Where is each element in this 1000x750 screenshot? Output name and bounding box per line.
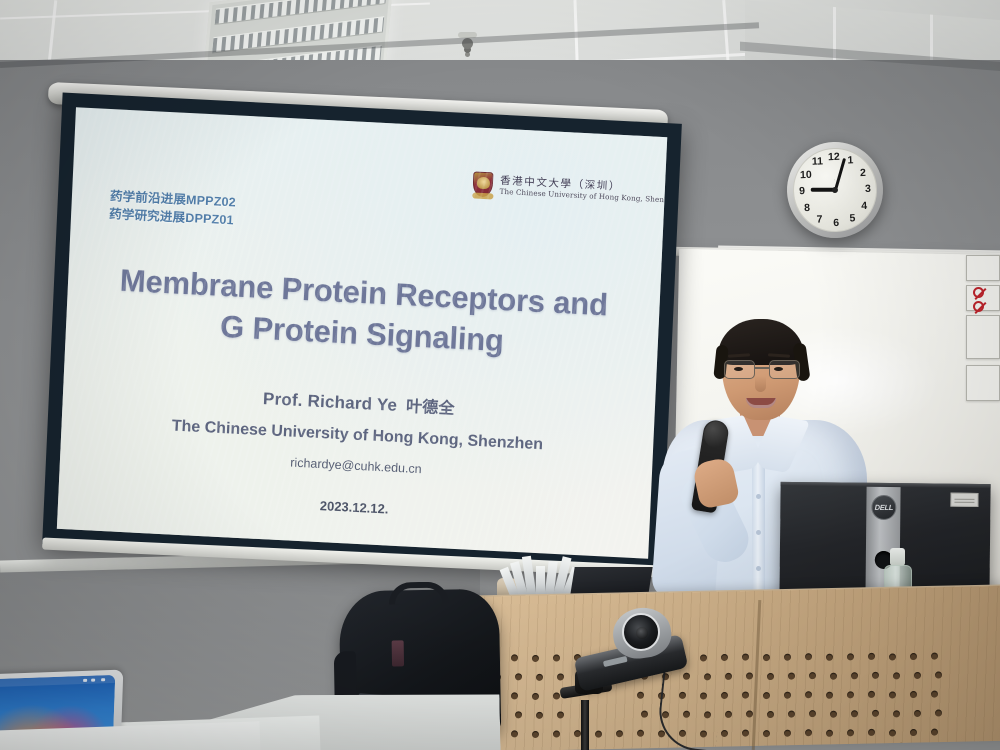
projected-slide: 药学前沿进展MPPZ02 药学研究进展DPPZ01 香港中文大學（深圳） The… (57, 107, 667, 559)
podium-perforation (868, 653, 875, 660)
podium-perforation (851, 672, 858, 679)
podium-perforation (742, 654, 749, 661)
podium-perforation (767, 673, 774, 680)
podium-perforation (725, 711, 732, 718)
podium-perforation (784, 730, 791, 737)
podium-perforation (893, 710, 900, 717)
podium-perforation (830, 710, 837, 717)
podium-perforation (637, 730, 644, 737)
notice-sign (966, 315, 1000, 359)
podium-perforation (805, 729, 812, 736)
speaker-name-en: Prof. Richard Ye (263, 389, 398, 415)
podium-perforation (595, 730, 602, 737)
cuhk-crest-icon (472, 171, 493, 197)
podium-perforation (553, 731, 560, 738)
podium-perforation (809, 710, 816, 717)
podium-perforation (721, 692, 728, 699)
podium-perforation (742, 730, 749, 737)
clock-numeral: 7 (816, 213, 822, 225)
podium-perforation (721, 730, 728, 737)
clock-numeral: 9 (799, 185, 805, 197)
podium-perforation (742, 692, 749, 699)
prohibition-icon (973, 287, 984, 298)
podium-perforation (767, 711, 774, 718)
clock-face: · 121234567891011 (792, 147, 879, 234)
eye-right (774, 367, 783, 371)
clock-numeral: 4 (861, 199, 867, 211)
clock-numeral: 2 (860, 166, 866, 178)
slide-speaker-name: Prof. Richard Ye叶德全 (63, 375, 655, 429)
podium-perforation (830, 672, 837, 679)
podium-perforation (574, 730, 581, 737)
menubar-icon (83, 678, 87, 682)
clock-numeral: 5 (849, 212, 855, 224)
podium-perforation (826, 691, 833, 698)
podium-perforation (511, 731, 518, 738)
podium-perforation (910, 653, 917, 660)
podium-perforation (515, 712, 522, 719)
podium-perforation (826, 653, 833, 660)
bottle-cap (890, 548, 905, 566)
podium-perforation (553, 655, 560, 662)
slide-date: 2023.12.12. (58, 485, 650, 530)
speaker-name-cn: 叶德全 (406, 396, 455, 417)
podium-perforation (763, 654, 770, 661)
podium-perforation (532, 693, 539, 700)
notice-sign (966, 365, 1000, 401)
clock-numeral: 11 (812, 156, 824, 168)
course-code-line-1: 药学前沿进展MPPZ02 (110, 187, 237, 211)
podium-perforation (805, 653, 812, 660)
podium-perforation (889, 729, 896, 736)
menubar-icon (101, 678, 105, 682)
notice-sign (966, 255, 1000, 281)
podium-perforation (725, 673, 732, 680)
podium-perforation (557, 711, 564, 718)
slide-title-line-2: G Protein Signaling (65, 298, 658, 369)
podium-perforation (935, 672, 942, 679)
clock-numeral: 3 (865, 183, 871, 195)
eye-left (734, 367, 743, 371)
clock-numeral: 6 (833, 217, 839, 229)
glasses-bridge (755, 367, 769, 369)
podium-perforation (637, 692, 644, 699)
podium-perforation (784, 654, 791, 661)
slide-title-line-1: Membrane Protein Receptors and (67, 257, 660, 328)
backpack-logo-tag (392, 640, 404, 666)
projection-screen: 药学前沿进展MPPZ02 药学研究进展DPPZ01 香港中文大學（深圳） The… (42, 93, 682, 576)
podium-perforation (931, 729, 938, 736)
shirt-button (756, 530, 761, 535)
podium-perforation (847, 729, 854, 736)
podium-perforation (931, 691, 938, 698)
clock-numeral: 12 (828, 151, 840, 163)
dell-logo-icon: DELL (871, 495, 896, 520)
presenter-hair (718, 319, 804, 365)
podium-perforation-grid (490, 645, 960, 750)
podium-perforation (889, 653, 896, 660)
podium-perforation (851, 710, 858, 717)
podium-perforation (910, 729, 917, 736)
podium-perforation (784, 692, 791, 699)
podium-perforation (872, 710, 879, 717)
menubar-icon (91, 678, 95, 682)
podium-perforation (553, 693, 560, 700)
podium-perforation (515, 674, 522, 681)
prohibition-icon (973, 301, 984, 312)
podium-perforation (557, 673, 564, 680)
lecture-hall-photo: · 121234567891011 药学前沿进展MPPZ02 药学研究进展DPP… (0, 0, 1000, 750)
podium-perforation (511, 693, 518, 700)
monitor-asset-sticker (950, 493, 978, 507)
camera-stand-pole (581, 700, 589, 750)
podium-perforation (763, 730, 770, 737)
podium-perforation (641, 711, 648, 718)
podium-perforation (746, 673, 753, 680)
podium-perforation (763, 692, 770, 699)
podium-perforation (935, 710, 942, 717)
podium-perforation (536, 711, 543, 718)
podium-perforation (746, 711, 753, 718)
wall-notices (962, 255, 1000, 400)
slide-affiliation: The Chinese University of Hong Kong, She… (61, 412, 653, 460)
podium-perforation (847, 691, 854, 698)
podium-perforation (805, 691, 812, 698)
slide-course-codes: 药学前沿进展MPPZ02 药学研究进展DPPZ01 (109, 187, 237, 230)
podium-perforation (872, 672, 879, 679)
clock-numeral: 10 (800, 168, 812, 180)
podium-perforation (809, 672, 816, 679)
podium-perforation (616, 730, 623, 737)
logo-chinese-name: 香港中文大學（深圳） (500, 175, 667, 196)
podium-perforation (826, 729, 833, 736)
podium-perforation (532, 731, 539, 738)
university-logo: 香港中文大學（深圳） The Chinese University of Hon… (472, 171, 667, 207)
podium-perforation (931, 653, 938, 660)
podium-perforation (788, 710, 795, 717)
slide-email: richardye@cuhk.edu.cn (60, 444, 652, 488)
podium-perforation (721, 654, 728, 661)
course-code-line-2: 药学研究进展DPPZ01 (109, 205, 236, 229)
clock-numeral: 8 (804, 201, 810, 213)
podium-perforation (511, 655, 518, 662)
podium-perforation (914, 710, 921, 717)
slide-title: Membrane Protein Receptors and G Protein… (65, 257, 660, 369)
shirt-button (756, 494, 761, 499)
podium-perforation (536, 673, 543, 680)
camera-lens-icon (622, 613, 660, 651)
podium-perforation (788, 672, 795, 679)
shirt-button (756, 566, 761, 571)
podium-perforation (910, 691, 917, 698)
podium-perforation (868, 729, 875, 736)
podium-perforation (889, 691, 896, 698)
clock-numeral: 1 (847, 155, 853, 167)
podium-perforation (847, 653, 854, 660)
podium-perforation (532, 655, 539, 662)
podium-perforation (914, 672, 921, 679)
nose (755, 376, 766, 392)
clock-center-pin (832, 187, 838, 193)
podium-perforation (868, 691, 875, 698)
logo-english-name: The Chinese University of Hong Kong, She… (499, 187, 667, 205)
podium-perforation (893, 672, 900, 679)
